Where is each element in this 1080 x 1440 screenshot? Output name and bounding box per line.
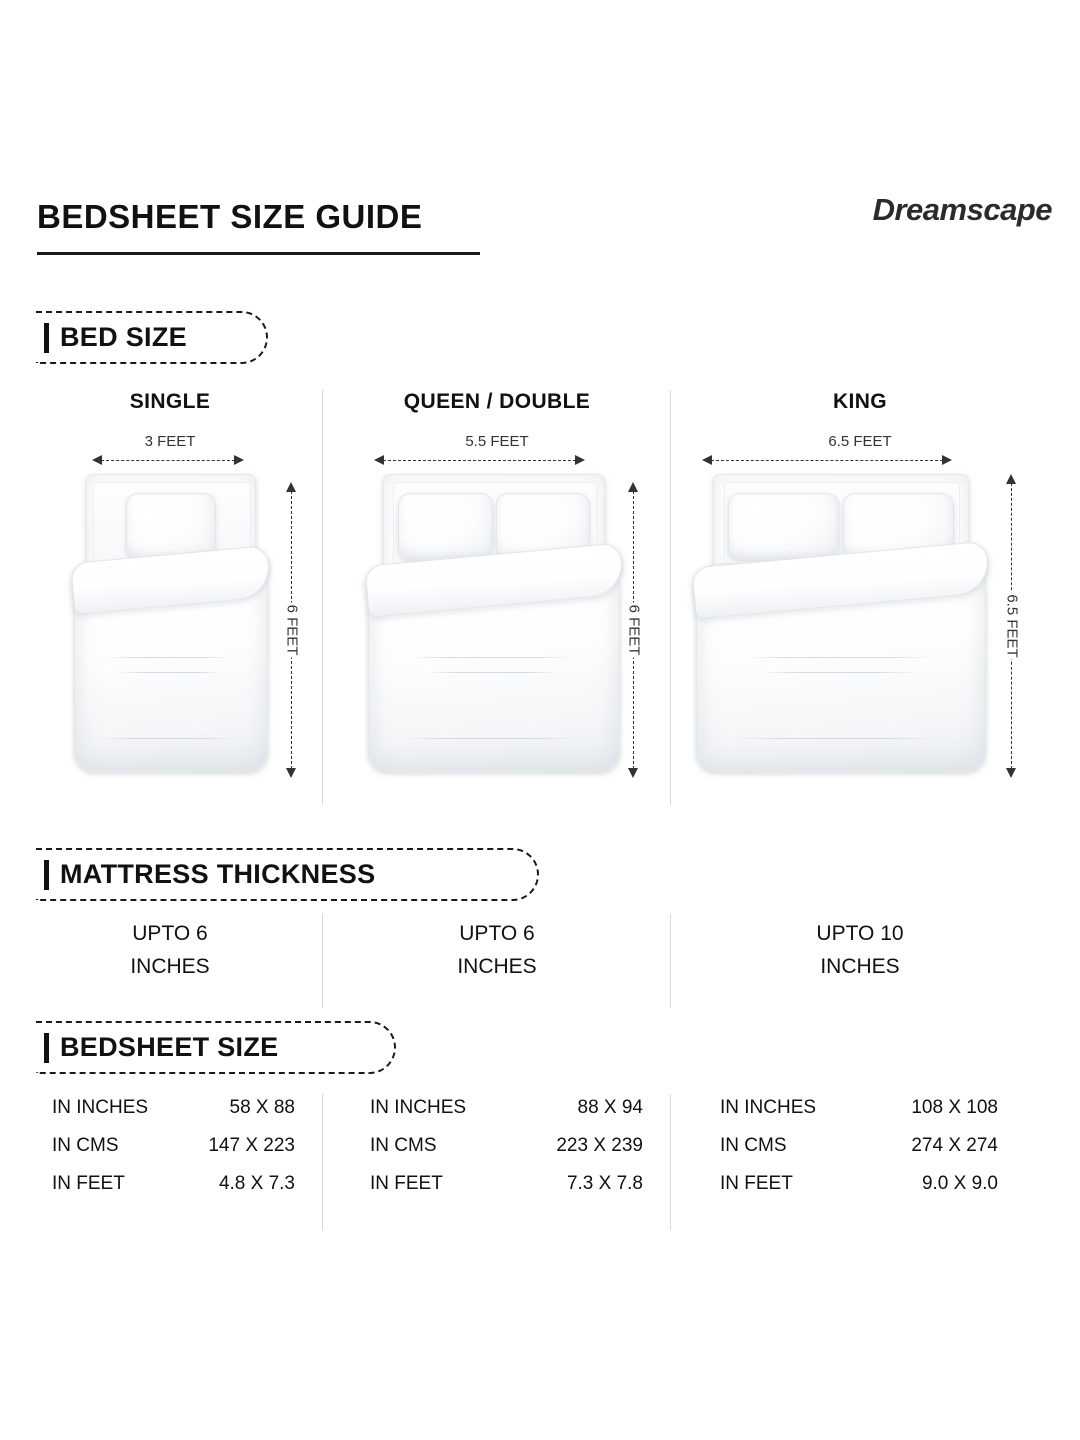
bed-name-single: SINGLE	[20, 390, 320, 414]
table-row: IN FEET 9.0 X 9.0	[720, 1174, 998, 1193]
thickness-value-queen: UPTO 6 INCHES	[326, 918, 668, 983]
table-row: IN INCHES 108 X 108	[720, 1098, 998, 1117]
spec-value: 7.3 X 7.8	[567, 1174, 643, 1193]
spec-label: IN INCHES	[720, 1098, 816, 1117]
duvet-crease	[743, 657, 933, 658]
table-divider-1	[322, 1094, 323, 1230]
spec-label: IN CMS	[52, 1136, 119, 1155]
arrowhead-right-icon	[942, 455, 952, 465]
column-divider-1	[322, 390, 323, 805]
bed-size-section: SINGLE 3 FEET 6 FEET QUE	[0, 390, 1080, 805]
duvet-crease	[760, 672, 918, 673]
duvet-crease	[117, 672, 223, 673]
table-row: IN FEET 4.8 X 7.3	[52, 1174, 295, 1193]
section-badge-bedsheet-size: BEDSHEET SIZE	[36, 1021, 396, 1074]
spec-value: 9.0 X 9.0	[922, 1174, 998, 1193]
dimension-line	[711, 460, 943, 461]
table-row: IN INCHES 88 X 94	[370, 1098, 643, 1117]
arrowhead-right-icon	[234, 455, 244, 465]
bed-column-king: KING 6.5 FEET 6.5 FEET	[674, 390, 1064, 770]
section-label-mattress-thickness: MATTRESS THICKNESS	[60, 859, 375, 890]
spec-value: 274 X 274	[911, 1136, 998, 1155]
spec-cell-single: IN INCHES 58 X 88 IN CMS 147 X 223 IN FE…	[52, 1098, 295, 1212]
length-dimension-arrow-queen: 6 FEET	[614, 482, 654, 778]
thickness-cell-king: UPTO 10 INCHES	[674, 918, 1064, 983]
spec-value: 108 X 108	[911, 1098, 998, 1117]
brand-logo: Dreamscape	[873, 192, 1052, 228]
bed-name-queen: QUEEN / DOUBLE	[326, 390, 668, 414]
table-row: IN INCHES 58 X 88	[52, 1098, 295, 1117]
width-dimension-arrow-king	[702, 454, 952, 468]
bed-illustration-queen	[368, 474, 618, 770]
width-dimension-arrow-queen	[374, 454, 585, 468]
spec-label: IN FEET	[370, 1174, 443, 1193]
spec-cell-king: IN INCHES 108 X 108 IN CMS 274 X 274 IN …	[720, 1098, 998, 1212]
bed-width-label-queen: 5.5 FEET	[326, 433, 668, 450]
width-dimension-arrow-single	[92, 454, 244, 468]
mattress-thickness-row: UPTO 6 INCHES UPTO 6 INCHES UPTO 10 INCH…	[0, 918, 1080, 1008]
bed-length-label-single: 6 FEET	[281, 603, 304, 658]
length-dimension-arrow-king: 6.5 FEET	[992, 474, 1032, 778]
badge-accent-bar	[44, 323, 49, 353]
thickness-cell-queen: UPTO 6 INCHES	[326, 918, 668, 983]
duvet-crease	[399, 738, 579, 739]
table-row: IN CMS 274 X 274	[720, 1136, 998, 1155]
spec-label: IN FEET	[720, 1174, 793, 1193]
dimension-line	[101, 460, 235, 461]
arrowhead-down-icon	[628, 768, 638, 778]
bedsheet-size-table: IN INCHES 58 X 88 IN CMS 147 X 223 IN FE…	[0, 1098, 1080, 1230]
spec-label: IN INCHES	[52, 1098, 148, 1117]
section-badge-mattress-thickness: MATTRESS THICKNESS	[36, 848, 539, 901]
title-underline	[37, 252, 480, 255]
table-row: IN CMS 223 X 239	[370, 1136, 643, 1155]
duvet-crease	[409, 657, 574, 658]
section-label-bedsheet-size: BEDSHEET SIZE	[60, 1032, 278, 1063]
bed-column-queen: QUEEN / DOUBLE 5.5 FEET 6 FEET	[326, 390, 668, 770]
table-row: IN CMS 147 X 223	[52, 1136, 295, 1155]
spec-value: 88 X 94	[578, 1098, 644, 1117]
spec-label: IN CMS	[720, 1136, 787, 1155]
spec-cell-queen: IN INCHES 88 X 94 IN CMS 223 X 239 IN FE…	[370, 1098, 643, 1212]
length-dimension-arrow-single: 6 FEET	[272, 482, 312, 778]
arrowhead-down-icon	[286, 768, 296, 778]
spec-value: 223 X 239	[556, 1136, 643, 1155]
spec-value: 58 X 88	[230, 1098, 296, 1117]
thickness-value-single: UPTO 6 INCHES	[20, 918, 320, 983]
column-divider-2	[670, 390, 671, 805]
badge-accent-bar	[44, 860, 49, 890]
bed-width-label-single: 3 FEET	[20, 433, 320, 450]
table-divider-2	[670, 1094, 671, 1230]
spec-label: IN FEET	[52, 1174, 125, 1193]
table-row: IN FEET 7.3 X 7.8	[370, 1174, 643, 1193]
section-label-bed-size: BED SIZE	[60, 322, 187, 353]
spec-label: IN CMS	[370, 1136, 437, 1155]
duvet-crease	[98, 738, 236, 739]
pillow-king-1	[728, 493, 839, 560]
bed-width-label-king: 6.5 FEET	[656, 433, 1064, 450]
spec-value: 147 X 223	[208, 1136, 295, 1155]
bed-length-label-queen: 6 FEET	[623, 603, 646, 658]
bed-illustration-single	[74, 474, 266, 770]
page-header: BEDSHEET SIZE GUIDE Dreamscape	[0, 176, 1080, 286]
bed-illustration-king	[696, 474, 984, 770]
arrowhead-down-icon	[1006, 768, 1016, 778]
section-badge-bed-size: BED SIZE	[36, 311, 268, 364]
duvet-crease	[424, 672, 562, 673]
badge-accent-bar	[44, 1033, 49, 1063]
page-title: BEDSHEET SIZE GUIDE	[37, 198, 422, 236]
thickness-value-king: UPTO 10 INCHES	[656, 918, 1064, 983]
thickness-cell-single: UPTO 6 INCHES	[20, 918, 320, 983]
arrowhead-right-icon	[575, 455, 585, 465]
duvet-crease	[732, 738, 939, 739]
thickness-divider-1	[322, 914, 323, 1008]
bed-name-king: KING	[656, 390, 1064, 414]
spec-label: IN INCHES	[370, 1098, 466, 1117]
dimension-line	[383, 460, 576, 461]
bed-column-single: SINGLE 3 FEET 6 FEET	[20, 390, 320, 770]
pillow-queen-1	[398, 493, 493, 560]
duvet-crease	[106, 657, 233, 658]
spec-value: 4.8 X 7.3	[219, 1174, 295, 1193]
bed-length-label-king: 6.5 FEET	[1001, 592, 1024, 659]
